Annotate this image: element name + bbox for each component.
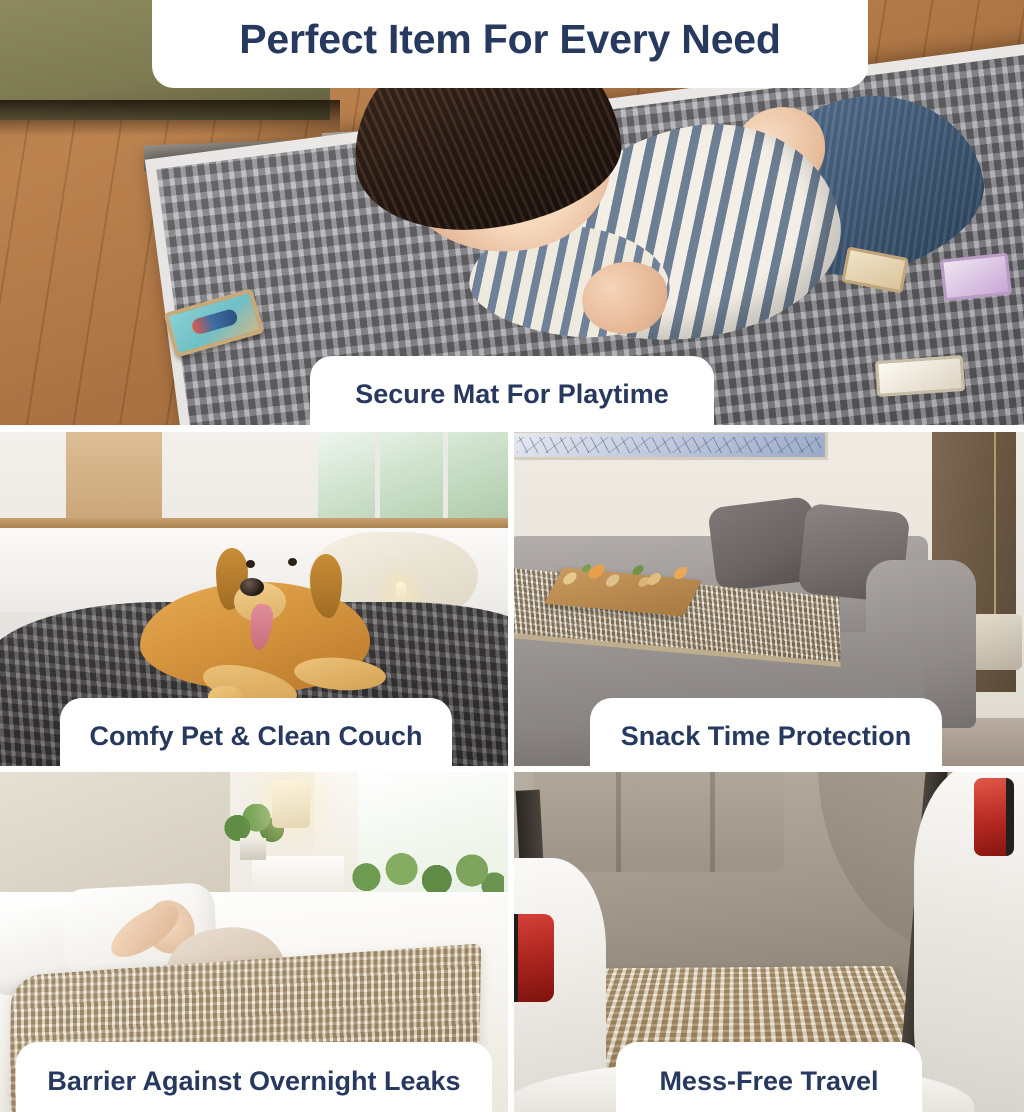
toy-card-white [875, 355, 965, 397]
caption-overnight: Barrier Against Overnight Leaks [16, 1042, 492, 1112]
table-lamp [272, 780, 310, 828]
dog-eye-right [288, 558, 297, 566]
dog-nose [240, 578, 264, 596]
rear-seat-back [534, 772, 784, 872]
furniture-shadow [0, 100, 340, 136]
caption-snack: Snack Time Protection [590, 698, 942, 766]
upholstered-headboard [0, 772, 230, 892]
plant-pot [240, 838, 266, 860]
product-infographic: Perfect Item For Every Need Secure Mat F… [0, 0, 1024, 1112]
lamp-cord [994, 432, 996, 618]
framed-map-art [514, 432, 828, 460]
toy-card-purple [940, 253, 1012, 302]
caption-pet-couch: Comfy Pet & Clean Couch [60, 698, 452, 766]
caption-playtime: Secure Mat For Playtime [310, 356, 714, 425]
dog-eye-left [246, 560, 255, 568]
wooden-rail [0, 518, 508, 528]
canape-snacks [546, 558, 709, 592]
pendant-lamp [972, 614, 1022, 670]
page-title: Perfect Item For Every Need [152, 0, 868, 88]
wooden-door [66, 432, 162, 532]
taillight-left [514, 914, 554, 1002]
caption-travel: Mess-Free Travel [616, 1042, 922, 1112]
taillight-right [974, 778, 1014, 856]
